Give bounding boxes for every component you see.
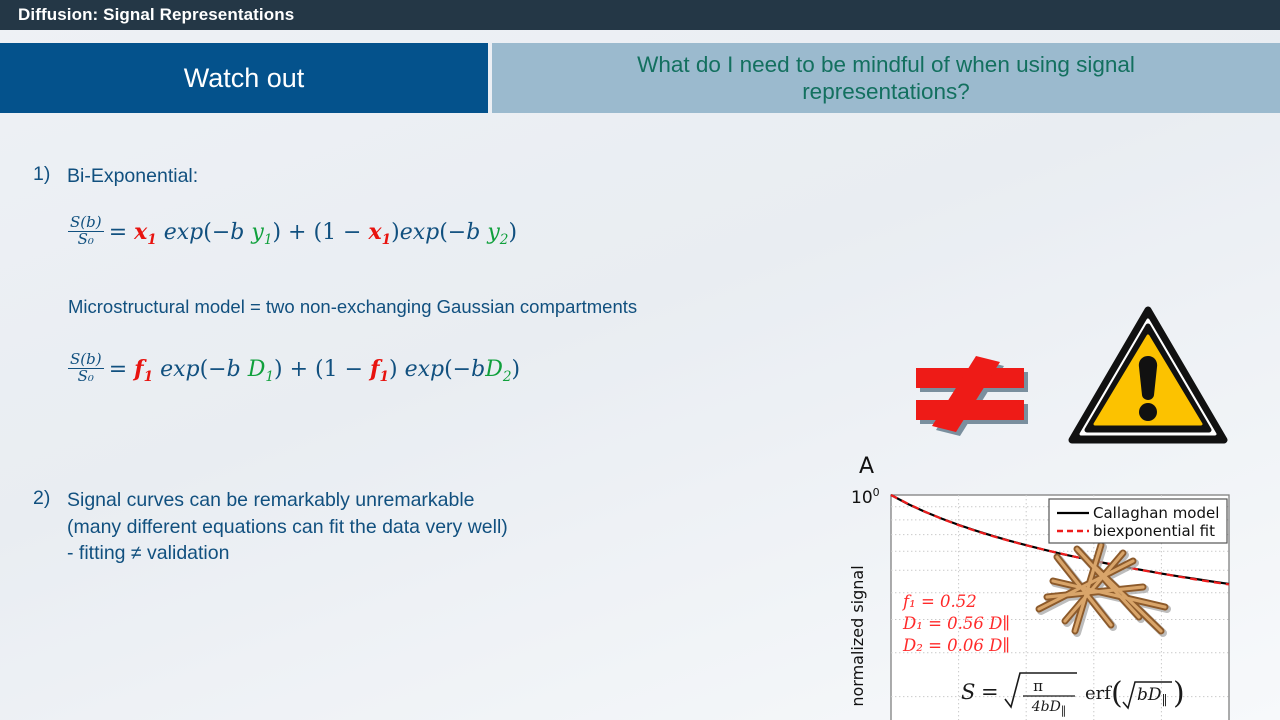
equation-biexponential-xy: S(b) S₀ = x1 exp(−b y1) + (1 − x1)exp(−b… [68, 216, 517, 249]
microstructural-model-text: Microstructural model = two non-exchangi… [68, 296, 637, 318]
chart-legend: Callaghan model biexponential fit [1049, 499, 1227, 543]
question-box: What do I need to be mindful of when usi… [492, 43, 1280, 113]
question-text: What do I need to be mindful of when usi… [637, 51, 1135, 106]
slide-content: 1) Bi-Exponential: S(b) S₀ = x1 exp(−b y… [0, 113, 1280, 720]
bullet-2-line-3: - fitting ≠ validation [67, 542, 229, 564]
question-line-2: representations? [802, 79, 970, 104]
banner-row: Watch out What do I need to be mindful o… [0, 43, 1280, 113]
eq1-fraction: S(b) S₀ [68, 215, 104, 248]
warning-triangle-icon [1068, 306, 1228, 451]
svg-text:f₁ = 0.52: f₁ = 0.52 [901, 592, 977, 611]
y-axis-title: normalized signal [848, 565, 867, 706]
svg-text:D₁ = 0.56 D∥: D₁ = 0.56 D∥ [902, 614, 1010, 633]
bullet-1-label: Bi-Exponential: [67, 163, 198, 190]
equation-biexponential-fD: S(b) S₀ = f1 exp(−b D1) + (1 − f1) exp(−… [68, 353, 520, 386]
bullet-1-number: 1) [33, 163, 67, 190]
eq1-numerator: S(b) [68, 215, 104, 231]
formula-pi: π [1033, 677, 1043, 695]
formula-erf: erf [1085, 683, 1112, 704]
y-tick-top: 100 [851, 486, 880, 508]
watch-out-label: Watch out [184, 63, 305, 94]
legend-label-biexp: biexponential fit [1093, 522, 1215, 540]
eq2-fraction: S(b) S₀ [68, 352, 104, 385]
formula-paren-close: ) [1173, 676, 1185, 711]
svg-text:D₂ = 0.06 D∥: D₂ = 0.06 D∥ [902, 636, 1010, 655]
formula-S: S [961, 680, 975, 704]
bullet-2-line-2: (many different equations can fit the da… [67, 516, 508, 538]
panel-letter: A [859, 454, 874, 479]
bullet-2-number: 2) [33, 487, 67, 567]
svg-text:=: = [981, 680, 999, 704]
bullet-item-1: 1) Bi-Exponential: [33, 163, 198, 190]
title-bar: Diffusion: Signal Representations [0, 0, 1280, 30]
eq2-numerator: S(b) [68, 352, 104, 368]
eq1-denominator: S₀ [68, 231, 104, 248]
figure-panel-a: A 100 10-1 normalized signal [845, 451, 1245, 720]
question-line-1: What do I need to be mindful of when usi… [637, 52, 1135, 77]
page-title: Diffusion: Signal Representations [0, 5, 294, 25]
watch-out-box: Watch out [0, 43, 488, 113]
eq2-body: = f1 exp(−b D1) + (1 − f1) exp(−bD2) [109, 357, 520, 382]
bullet-item-2: 2) Signal curves can be remarkably unrem… [33, 487, 508, 567]
formula-paren-open: ( [1111, 676, 1123, 711]
eq2-denominator: S₀ [68, 368, 104, 385]
eq1-body: = x1 exp(−b y1) + (1 − x1)exp(−b y2) [109, 220, 517, 245]
bullet-2-label: Signal curves can be remarkably unremark… [67, 487, 508, 567]
legend-label-callaghan: Callaghan model [1093, 504, 1219, 522]
bullet-2-line-1: Signal curves can be remarkably unremark… [67, 489, 475, 511]
not-equal-icon [916, 356, 1036, 441]
